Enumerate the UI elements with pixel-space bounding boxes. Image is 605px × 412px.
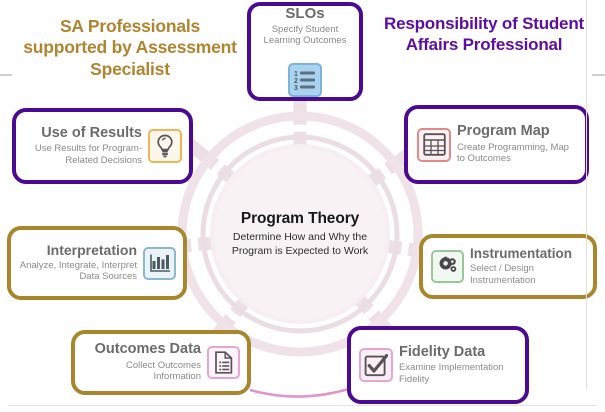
node-fidelity-data-body: Fidelity Data Examine Implementation Fid…	[393, 345, 525, 385]
svg-text:3: 3	[294, 85, 298, 92]
node-program-map[interactable]: Program Map Create Programming, Map to O…	[404, 105, 589, 184]
node-slos[interactable]: SLOs Specify Student Learning Outcomes 1…	[247, 2, 363, 101]
svg-text:2: 2	[294, 78, 298, 85]
node-interpretation-title: Interpretation	[17, 243, 137, 258]
node-interpretation-body: Interpretation Analyze, Integrate, Inter…	[11, 243, 143, 283]
node-slos-title: SLOs	[257, 6, 353, 22]
node-use-of-results-subtitle: Use Results for Program-Related Decision…	[22, 143, 142, 166]
checkbox-checked-icon	[359, 348, 393, 382]
node-interpretation-subtitle: Analyze, Integrate, Interpret Data Sourc…	[17, 260, 137, 283]
node-program-map-body: Program Map Create Programming, Map to O…	[451, 124, 585, 164]
node-program-map-title: Program Map	[457, 124, 579, 139]
node-interpretation[interactable]: Interpretation Analyze, Integrate, Inter…	[7, 226, 187, 300]
slide-artifact-right-rule	[586, 0, 587, 390]
node-outcomes-data-body: Outcomes Data Collect Outcomes Informati…	[75, 342, 207, 382]
numbered-list-icon: 123	[288, 63, 322, 97]
node-program-map-subtitle: Create Programming, Map to Outcomes	[457, 142, 579, 165]
node-outcomes-data-title: Outcomes Data	[81, 342, 201, 357]
grid-table-icon	[417, 128, 451, 162]
node-fidelity-data[interactable]: Fidelity Data Examine Implementation Fid…	[347, 326, 529, 404]
hub-title: Program Theory	[241, 210, 359, 228]
node-use-of-results[interactable]: Use of Results Use Results for Program-R…	[12, 108, 193, 184]
node-outcomes-data[interactable]: Outcomes Data Collect Outcomes Informati…	[71, 330, 251, 395]
node-use-of-results-body: Use of Results Use Results for Program-R…	[16, 126, 148, 166]
lightbulb-icon	[148, 129, 182, 163]
node-instrumentation-subtitle: Select / Design Instrumentation	[470, 263, 587, 286]
node-use-of-results-title: Use of Results	[22, 126, 142, 141]
slide-artifact-bottom-rule	[8, 405, 597, 406]
heading-left: SA Professionals supported by Assessment…	[20, 16, 240, 80]
svg-text:1: 1	[294, 71, 298, 78]
node-slos-subtitle: Specify Student Learning Outcomes	[257, 24, 353, 47]
hub-subtitle: Determine How and Why the Program is Exp…	[218, 231, 382, 258]
heading-right: Responsibility of Student Affairs Profes…	[378, 14, 590, 55]
node-instrumentation-body: Instrumentation Select / Design Instrume…	[464, 247, 593, 286]
center-hub-program-theory: Program Theory Determine How and Why the…	[218, 178, 382, 290]
node-instrumentation[interactable]: Instrumentation Select / Design Instrume…	[419, 234, 597, 299]
slide-artifact-left-dash	[0, 74, 12, 76]
wheel-connector-arc	[250, 385, 354, 397]
bar-chart-icon	[143, 247, 176, 280]
node-outcomes-data-subtitle: Collect Outcomes Information	[81, 360, 201, 383]
document-list-icon	[207, 346, 240, 379]
gears-icon	[431, 250, 464, 283]
node-fidelity-data-subtitle: Examine Implementation Fidelity	[399, 362, 519, 385]
node-fidelity-data-title: Fidelity Data	[399, 345, 519, 360]
slide-artifact-right-dash	[592, 74, 605, 76]
diagram-canvas: SA Professionals supported by Assessment…	[0, 0, 605, 412]
node-slos-body: SLOs Specify Student Learning Outcomes	[251, 6, 359, 59]
node-instrumentation-title: Instrumentation	[470, 247, 587, 261]
